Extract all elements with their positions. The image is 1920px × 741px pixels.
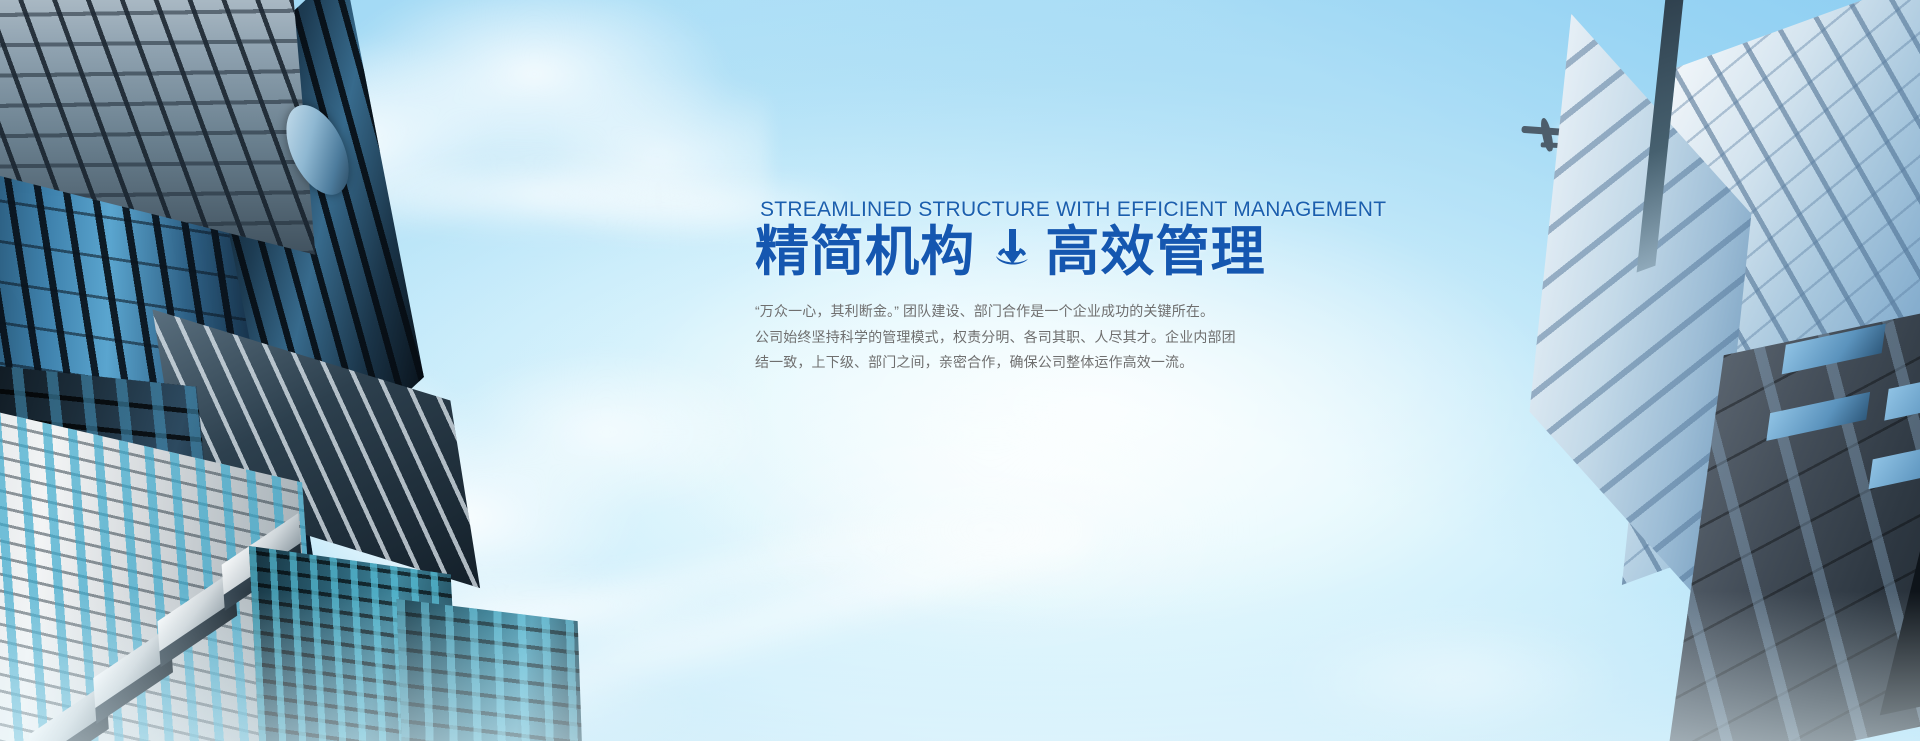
paragraph-line: 结一致，上下级、部门之间，亲密合作，确保公司整体运作高效一流。 (755, 350, 1280, 376)
paragraph-line: 公司始终坚持科学的管理模式，权责分明、各司其职、人尽其才。企业内部团 (755, 325, 1280, 351)
swoosh-arrow-mark-icon (989, 226, 1035, 278)
headline-chinese-left: 精简机构 (755, 224, 975, 281)
headline-chinese-row: 精简机构 高效管理 (755, 224, 1315, 281)
hero-banner: STREAMLINED STRUCTURE WITH EFFICIENT MAN… (0, 0, 1920, 741)
cloud-center-haze (640, 380, 1340, 680)
paragraph-line: “万众一心，其利断金。” 团队建设、部门合作是一个企业成功的关键所在。 (755, 299, 1280, 325)
headline-chinese-right: 高效管理 (1045, 224, 1265, 281)
tower-teal-right-facade (397, 599, 583, 741)
banner-text-block: STREAMLINED STRUCTURE WITH EFFICIENT MAN… (755, 198, 1315, 376)
headline-english: STREAMLINED STRUCTURE WITH EFFICIENT MAN… (760, 198, 1315, 222)
tower-teal-right (397, 607, 582, 741)
banner-paragraph: “万众一心，其利断金。” 团队建设、部门合作是一个企业成功的关键所在。 公司始终… (755, 299, 1280, 377)
